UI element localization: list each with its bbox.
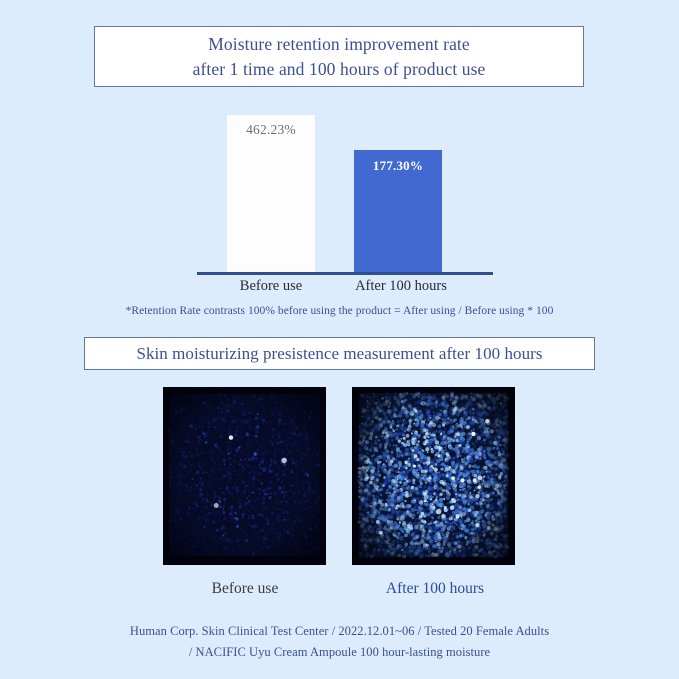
chart-plot-area: 462.23% 177.30% [195, 108, 495, 274]
main-title-line-2: after 1 time and 100 hours of product us… [193, 57, 486, 82]
main-title-box: Moisture retention improvement rate afte… [94, 26, 584, 87]
speckle-layer-before [163, 387, 326, 565]
bar-chart: 462.23% 177.30% Before use After 100 hou… [195, 108, 495, 303]
footer-line-1: Human Corp. Skin Clinical Test Center / … [0, 621, 679, 642]
infographic-page: Moisture retention improvement rate afte… [0, 0, 679, 679]
chart-category-labels: Before use After 100 hours [195, 278, 495, 300]
panel-caption-after-100-hours: After 100 hours [335, 580, 535, 598]
bar-after-100-hours: 177.30% [354, 150, 442, 272]
microscopy-panels [0, 387, 679, 567]
bar-value-after-100-hours: 177.30% [354, 158, 442, 174]
section-title-text: Skin moisturizing presistence measuremen… [136, 343, 542, 365]
panel-caption-before-use: Before use [145, 580, 345, 598]
microscopy-image-after-100-hours [352, 387, 515, 565]
panel-captions: Before use After 100 hours [0, 580, 679, 604]
footer-line-2: / NACIFIC Uyu Cream Ampoule 100 hour-las… [0, 642, 679, 663]
speckle-layer-after [352, 387, 515, 565]
category-label-after-100-hours: After 100 hours [341, 278, 461, 295]
chart-footnote: *Retention Rate contrasts 100% before us… [0, 305, 679, 317]
category-label-before-use: Before use [211, 278, 331, 295]
study-footer: Human Corp. Skin Clinical Test Center / … [0, 621, 679, 663]
main-title-line-1: Moisture retention improvement rate [208, 32, 470, 57]
chart-axis-line [197, 272, 493, 275]
bar-before-use: 462.23% [227, 115, 315, 272]
bar-value-before-use: 462.23% [227, 122, 315, 138]
microscopy-image-before-use [163, 387, 326, 565]
section-title-box: Skin moisturizing presistence measuremen… [84, 337, 595, 370]
